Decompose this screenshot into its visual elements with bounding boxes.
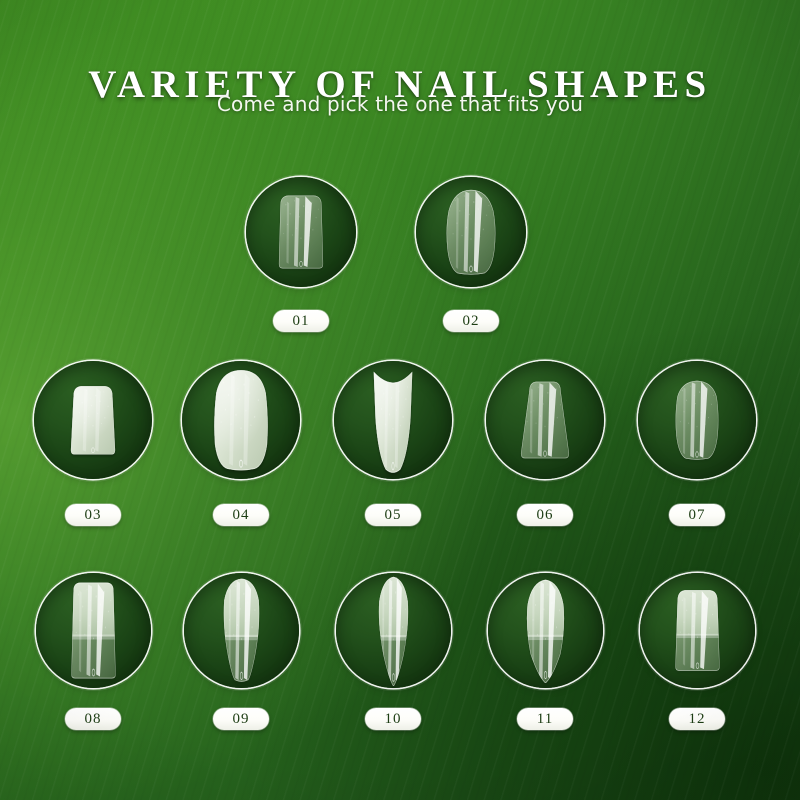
shape-label-text: 02 bbox=[463, 314, 480, 329]
nail-shape-04 bbox=[210, 368, 272, 472]
nail-shape-cell-10[interactable] bbox=[336, 573, 451, 688]
shape-label-text: 12 bbox=[689, 712, 706, 727]
nail-shape-01 bbox=[274, 194, 328, 270]
shape-label-pill-04[interactable]: 04 bbox=[213, 504, 269, 526]
shape-label-pill-11[interactable]: 11 bbox=[517, 708, 573, 730]
shape-label-pill-09[interactable]: 09 bbox=[213, 708, 269, 730]
nail-shape-10 bbox=[372, 574, 414, 686]
nail-shape-02 bbox=[443, 188, 499, 276]
shape-label-text: 03 bbox=[85, 508, 102, 523]
nail-shape-cell-03[interactable] bbox=[34, 361, 152, 479]
nail-shape-cell-09[interactable] bbox=[184, 573, 299, 688]
shape-label-pill-10[interactable]: 10 bbox=[365, 708, 421, 730]
shape-label-pill-07[interactable]: 07 bbox=[669, 504, 725, 526]
shape-label-text: 11 bbox=[537, 712, 553, 727]
nail-shape-12 bbox=[670, 588, 724, 672]
nail-shape-cell-02[interactable] bbox=[416, 177, 526, 287]
poster-canvas: VARIETY OF NAIL SHAPES Come and pick the… bbox=[0, 0, 800, 800]
nail-shape-grid: 010203040506070809101112 bbox=[0, 0, 800, 800]
nail-shape-11 bbox=[520, 577, 570, 683]
shape-label-text: 08 bbox=[85, 712, 102, 727]
nail-shape-07 bbox=[671, 379, 723, 461]
shape-label-text: 09 bbox=[233, 712, 250, 727]
nail-shape-cell-05[interactable] bbox=[334, 361, 452, 479]
shape-label-text: 05 bbox=[385, 508, 402, 523]
nail-shape-cell-11[interactable] bbox=[488, 573, 603, 688]
shape-label-pill-12[interactable]: 12 bbox=[669, 708, 725, 730]
nail-shape-cell-08[interactable] bbox=[36, 573, 151, 688]
nail-shape-05 bbox=[370, 365, 416, 475]
shape-label-pill-03[interactable]: 03 bbox=[65, 504, 121, 526]
shape-label-pill-02[interactable]: 02 bbox=[443, 310, 499, 332]
nail-shape-08 bbox=[66, 580, 120, 680]
shape-label-pill-05[interactable]: 05 bbox=[365, 504, 421, 526]
shape-label-text: 10 bbox=[385, 712, 402, 727]
nail-shape-cell-01[interactable] bbox=[246, 177, 356, 287]
nail-shape-09 bbox=[217, 576, 265, 684]
shape-label-text: 07 bbox=[689, 508, 706, 523]
shape-label-pill-08[interactable]: 08 bbox=[65, 708, 121, 730]
shape-label-text: 01 bbox=[293, 314, 310, 329]
nail-shape-cell-04[interactable] bbox=[182, 361, 300, 479]
shape-label-text: 06 bbox=[537, 508, 554, 523]
nail-shape-06 bbox=[517, 380, 573, 460]
nail-shape-cell-12[interactable] bbox=[640, 573, 755, 688]
nail-shape-cell-07[interactable] bbox=[638, 361, 756, 479]
nail-shape-cell-06[interactable] bbox=[486, 361, 604, 479]
shape-label-pill-06[interactable]: 06 bbox=[517, 504, 573, 526]
shape-label-text: 04 bbox=[233, 508, 250, 523]
shape-label-pill-01[interactable]: 01 bbox=[273, 310, 329, 332]
nail-shape-03 bbox=[66, 384, 120, 456]
